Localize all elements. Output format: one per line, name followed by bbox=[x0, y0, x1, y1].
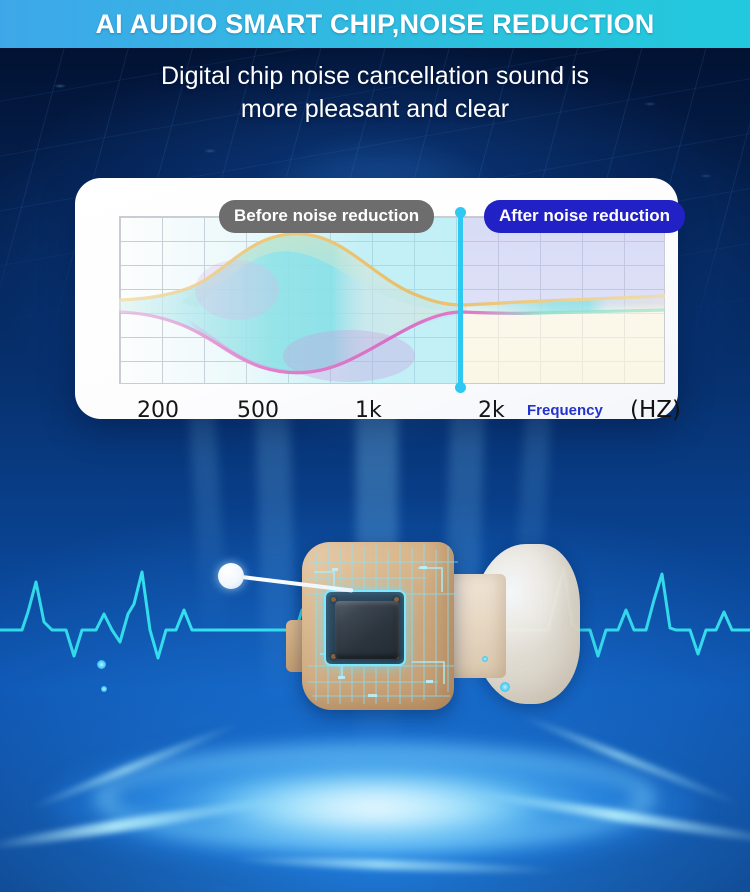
before-after-divider bbox=[458, 212, 463, 388]
x-axis-unit: (HZ) bbox=[630, 397, 681, 423]
glow-particle bbox=[101, 686, 107, 692]
legend-after-noise-reduction: After noise reduction bbox=[484, 200, 685, 233]
glow-particle bbox=[500, 682, 510, 692]
divider-dot-top bbox=[455, 207, 466, 218]
x-tick-500: 500 bbox=[237, 398, 279, 423]
x-tick-200: 200 bbox=[137, 398, 179, 423]
callout-leader-line bbox=[242, 575, 354, 593]
chart-left-blob bbox=[195, 260, 279, 320]
chart-waveform-svg bbox=[119, 216, 665, 384]
subtitle-line-1: Digital chip noise cancellation sound is bbox=[0, 60, 750, 93]
chart-plot-area: Before noise reduction After noise reduc… bbox=[119, 216, 665, 390]
page-title: AI AUDIO SMART CHIP,NOISE REDUCTION bbox=[95, 9, 654, 40]
product-poster: AI AUDIO SMART CHIP,NOISE REDUCTION Digi… bbox=[0, 0, 750, 892]
header-banner: AI AUDIO SMART CHIP,NOISE REDUCTION bbox=[0, 0, 750, 48]
callout-dot bbox=[218, 563, 244, 589]
x-axis-label: Frequency bbox=[527, 402, 603, 419]
glowing-podium bbox=[0, 700, 750, 892]
subtitle: Digital chip noise cancellation sound is… bbox=[0, 60, 750, 126]
podium-core-glow bbox=[210, 778, 540, 840]
frequency-chart-card: Before noise reduction After noise reduc… bbox=[75, 178, 678, 419]
divider-dot-bottom bbox=[455, 382, 466, 393]
glow-particle bbox=[97, 660, 106, 669]
legend-before-noise-reduction: Before noise reduction bbox=[219, 200, 434, 233]
ai-chip bbox=[324, 590, 406, 666]
x-tick-1k: 1k bbox=[355, 398, 382, 423]
subtitle-line-2: more pleasant and clear bbox=[0, 93, 750, 126]
device-callout-marker bbox=[200, 555, 380, 595]
x-tick-2k: 2k bbox=[478, 398, 505, 423]
chart-bottom-blob bbox=[283, 330, 415, 382]
glow-particle bbox=[482, 656, 488, 662]
chart-x-axis: 200 500 1k 2k Frequency (HZ) bbox=[103, 398, 731, 426]
chip-die bbox=[335, 601, 399, 659]
